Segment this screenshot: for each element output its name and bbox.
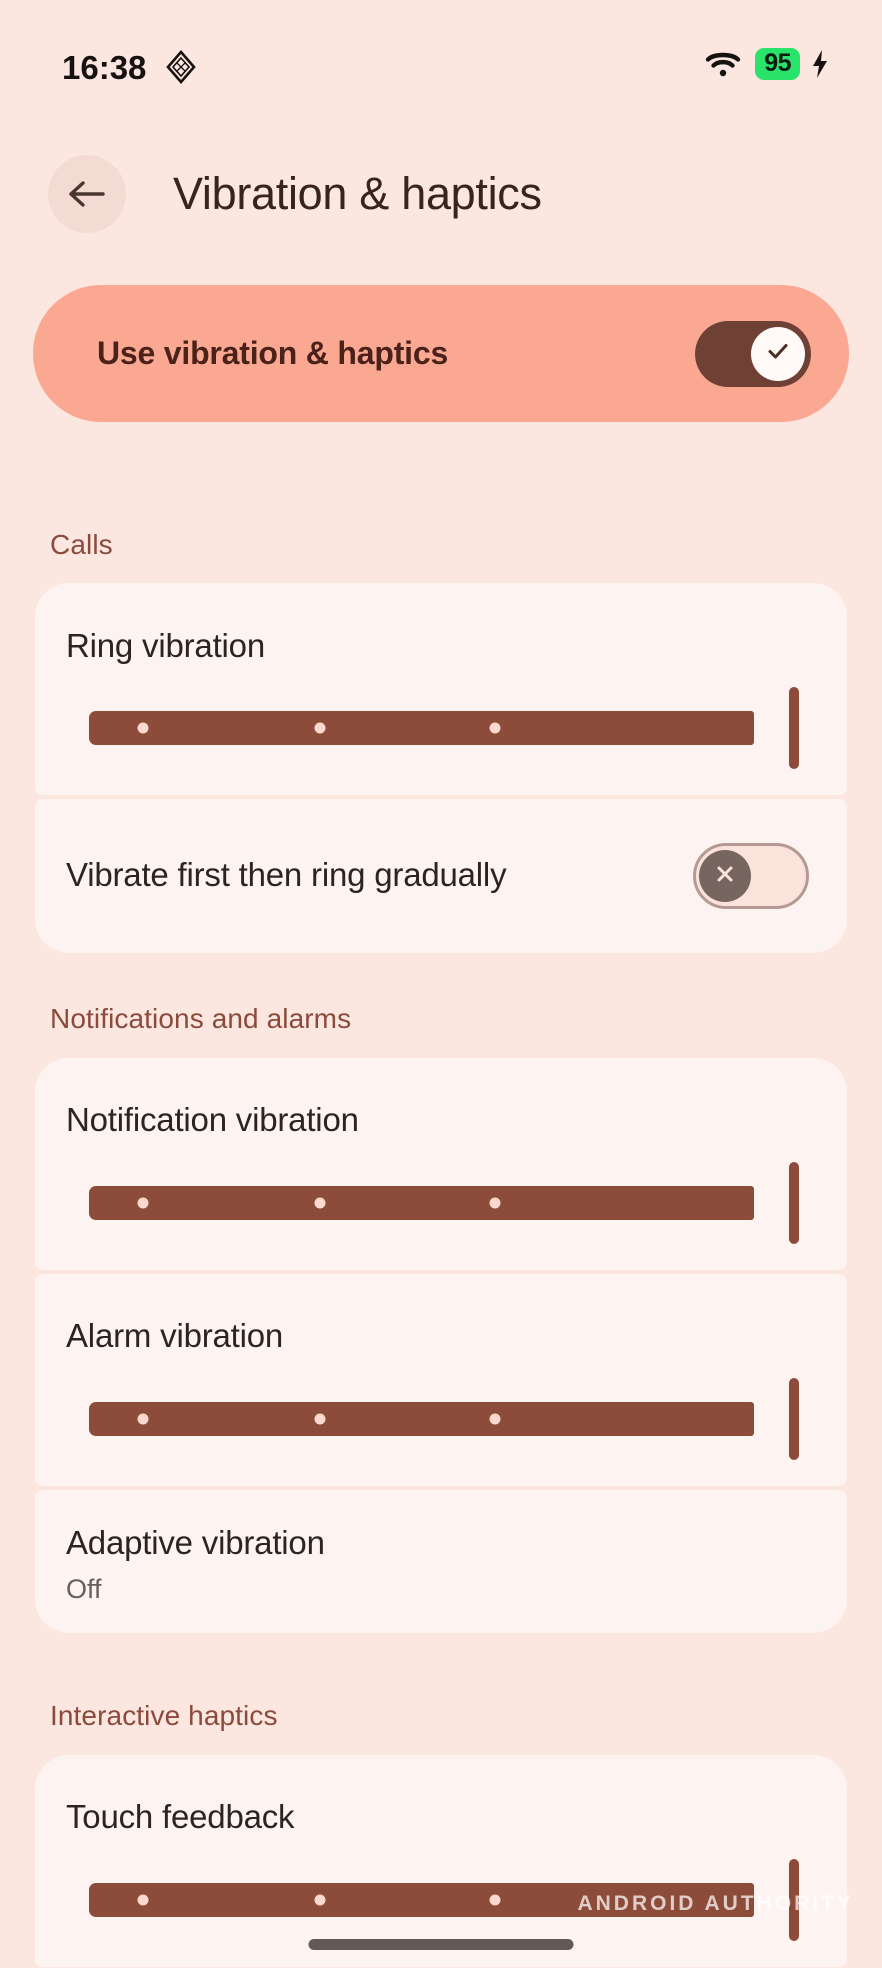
use-vibration-haptics-switch[interactable] — [695, 321, 811, 387]
slider-tick — [490, 723, 501, 734]
vibrate-first-switch[interactable] — [693, 843, 809, 909]
row-title-notification-vibration: Notification vibration — [66, 1101, 359, 1139]
status-bar: 16:38 95 — [0, 0, 882, 118]
back-button[interactable] — [48, 155, 126, 233]
slider-tick — [315, 1895, 326, 1906]
slider-tick — [490, 1198, 501, 1209]
slider-ring-vibration[interactable] — [89, 707, 819, 749]
battery-percent-badge: 95 — [755, 48, 800, 80]
watermark: ANDROID AUTHORITY — [577, 1892, 854, 1916]
section-header-notifications-alarms: Notifications and alarms — [50, 1003, 351, 1035]
status-bar-right: 95 — [705, 48, 830, 80]
slider-notification-vibration[interactable] — [89, 1182, 819, 1224]
switch-knob — [699, 850, 751, 902]
check-icon — [763, 336, 793, 371]
row-title-adaptive-vibration: Adaptive vibration — [66, 1524, 325, 1562]
status-bar-clock: 16:38 — [62, 51, 146, 84]
row-vibrate-first-then-ring[interactable]: Vibrate first then ring gradually — [35, 799, 847, 953]
slider-track — [89, 711, 754, 745]
use-vibration-haptics-label: Use vibration & haptics — [97, 335, 448, 372]
phone-screen: 16:38 95 — [0, 0, 882, 1968]
page-title: Vibration & haptics — [173, 151, 542, 237]
diamond-app-icon — [164, 50, 198, 84]
row-title-touch-feedback: Touch feedback — [66, 1798, 294, 1836]
section-header-calls: Calls — [50, 529, 113, 561]
slider-thumb[interactable] — [789, 1162, 799, 1244]
slider-tick — [315, 1414, 326, 1425]
slider-tick — [138, 1895, 149, 1906]
row-ring-vibration[interactable]: Ring vibration — [35, 583, 847, 795]
slider-tick — [315, 723, 326, 734]
slider-tick — [138, 723, 149, 734]
row-alarm-vibration[interactable]: Alarm vibration — [35, 1274, 847, 1486]
slider-track — [89, 1402, 754, 1436]
row-title-vibrate-first: Vibrate first then ring gradually — [66, 856, 506, 894]
status-bar-left: 16:38 — [62, 50, 198, 84]
section-header-interactive-haptics: Interactive haptics — [50, 1700, 278, 1732]
gesture-navigation-bar[interactable] — [309, 1939, 574, 1950]
slider-thumb[interactable] — [789, 687, 799, 769]
row-title-ring-vibration: Ring vibration — [66, 627, 265, 665]
switch-knob — [751, 327, 805, 381]
back-arrow-icon — [67, 178, 107, 210]
app-bar: Vibration & haptics — [0, 155, 882, 241]
slider-tick — [315, 1198, 326, 1209]
slider-alarm-vibration[interactable] — [89, 1398, 819, 1440]
slider-tick — [138, 1414, 149, 1425]
use-vibration-haptics-card[interactable]: Use vibration & haptics — [33, 285, 849, 422]
row-title-alarm-vibration: Alarm vibration — [66, 1317, 283, 1355]
slider-thumb[interactable] — [789, 1378, 799, 1460]
row-notification-vibration[interactable]: Notification vibration — [35, 1058, 847, 1270]
row-touch-feedback[interactable]: Touch feedback — [35, 1755, 847, 1967]
row-adaptive-vibration[interactable]: Adaptive vibration Off — [35, 1490, 847, 1633]
slider-tick — [138, 1198, 149, 1209]
close-x-icon — [711, 860, 739, 893]
slider-track — [89, 1186, 754, 1220]
lightning-bolt-icon — [810, 49, 830, 79]
slider-tick — [490, 1895, 501, 1906]
slider-tick — [490, 1414, 501, 1425]
wifi-icon — [705, 49, 741, 79]
row-subtitle-adaptive-vibration: Off — [66, 1574, 102, 1605]
